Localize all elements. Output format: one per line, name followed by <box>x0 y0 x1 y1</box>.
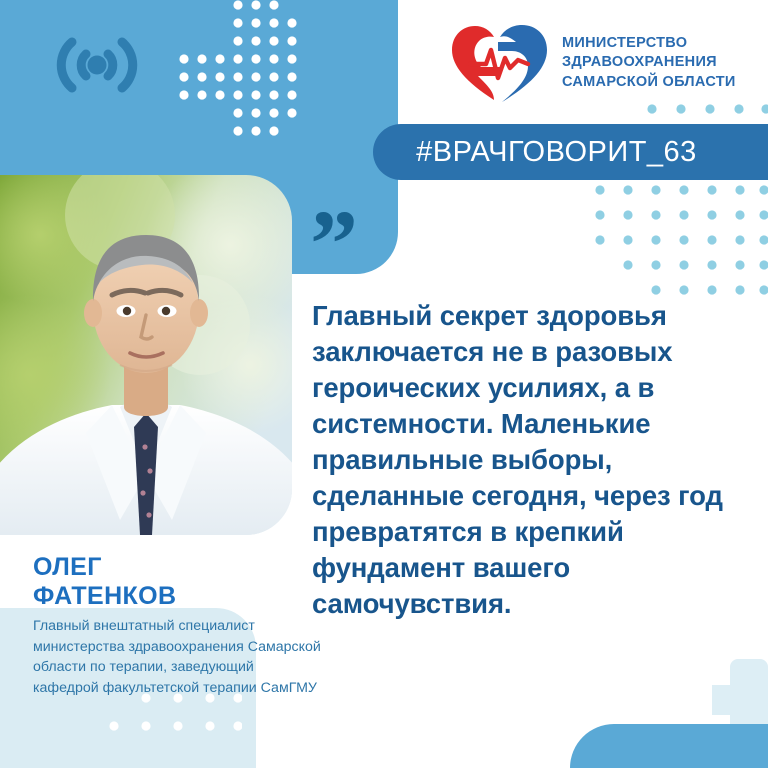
ministry-logo-text: Министерство здравоохранения Самарской о… <box>562 34 736 91</box>
logo-text-line-1: Министерство <box>562 34 736 53</box>
speaker-last-name: ФАТЕНКОВ <box>33 582 313 611</box>
logo-text-line-2: здравоохранения <box>562 53 736 72</box>
ministry-logo: Министерство здравоохранения Самарской о… <box>448 22 736 104</box>
heart-ecg-logo-icon <box>448 22 550 104</box>
credentials-dot-grid <box>92 690 242 746</box>
speaker-name: ОЛЕГ ФАТЕНКОВ <box>33 553 313 610</box>
speaker-first-name: ОЛЕГ <box>33 553 313 582</box>
speaker-title: Главный внештатный специалист министерст… <box>33 616 323 698</box>
quote-mark-icon: ” <box>310 218 360 270</box>
dot-grid-cross <box>178 0 298 140</box>
logo-text-line-3: Самарской области <box>562 73 736 92</box>
dot-row <box>646 102 768 116</box>
broadcast-signal-icon <box>42 26 152 104</box>
bottom-right-blue-bar <box>570 724 768 768</box>
quote-body: Главный секрет здоровья заключается не в… <box>312 298 758 622</box>
hashtag-label: #ВРАЧГОВОРИТ_63 <box>416 136 725 169</box>
dot-grid-staircase <box>592 182 768 304</box>
speaker-photo <box>0 175 292 535</box>
hashtag-banner: #ВРАЧГОВОРИТ_63 <box>373 124 768 180</box>
